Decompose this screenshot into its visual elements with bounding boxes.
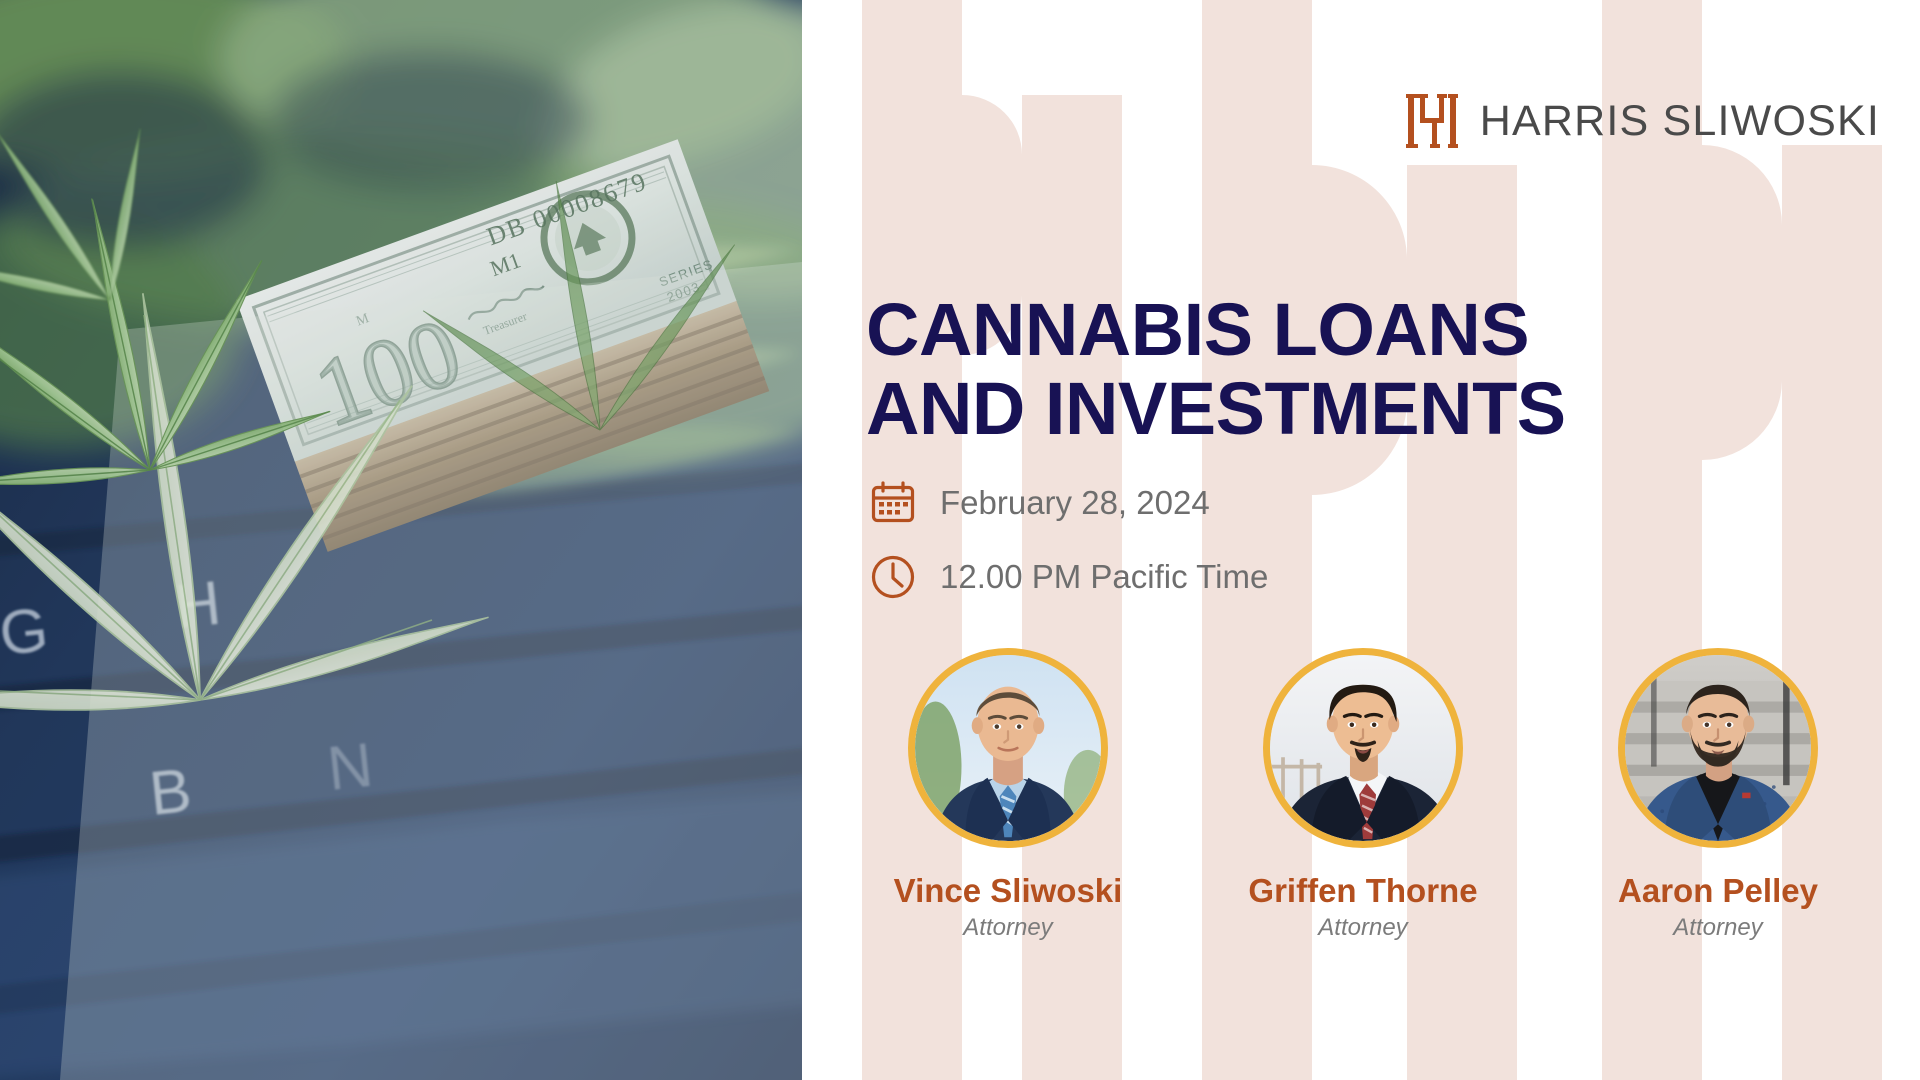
event-time-row: 12.00 PM Pacific Time: [870, 547, 1268, 607]
brand-wordmark: HARRIS SLIWOSKI: [1480, 97, 1880, 146]
title-line-1: CANNABIS LOANS: [866, 290, 1886, 370]
speaker-card[interactable]: Aaron Pelley Attorney: [1568, 648, 1868, 942]
content-panel: HARRIS SLIWOSKI CANNABIS LOANS AND INVES…: [802, 0, 1920, 1080]
clock-icon: [870, 554, 916, 600]
webinar-promo-poster: G H B N: [0, 0, 1920, 1080]
speaker-2-headshot: [1270, 655, 1456, 841]
speaker-role: Attorney: [858, 914, 1158, 942]
speaker-name: Vince Sliwoski: [858, 872, 1158, 910]
hero-photo-illustration: G H B N: [0, 0, 802, 1080]
speaker-card[interactable]: Vince Sliwoski Attorney: [858, 648, 1158, 942]
harris-sliwoski-h-monogram-icon: [1406, 92, 1458, 150]
calendar-icon: [870, 480, 916, 526]
speaker-3-headshot: [1625, 655, 1811, 841]
event-time-text: 12.00 PM Pacific Time: [940, 558, 1268, 596]
event-date-text: February 28, 2024: [940, 484, 1210, 522]
speaker-role: Attorney: [1568, 914, 1868, 942]
avatar: [1618, 648, 1818, 848]
speakers-list: Vince Sliwoski Attorney: [858, 648, 1868, 942]
hero-photo: G H B N: [0, 0, 802, 1080]
speaker-1-headshot: [915, 655, 1101, 841]
event-date-row: February 28, 2024: [870, 473, 1268, 533]
title-line-2: AND INVESTMENTS: [866, 369, 1886, 449]
speaker-card[interactable]: Griffen Thorne Attorney: [1213, 648, 1513, 942]
speaker-name: Griffen Thorne: [1213, 872, 1513, 910]
speaker-name: Aaron Pelley: [1568, 872, 1868, 910]
speaker-role: Attorney: [1213, 914, 1513, 942]
page-title: CANNABIS LOANS AND INVESTMENTS: [866, 290, 1886, 450]
brand-logo[interactable]: HARRIS SLIWOSKI: [1406, 92, 1880, 150]
avatar: [1263, 648, 1463, 848]
avatar: [908, 648, 1108, 848]
event-meta: February 28, 2024 12.00 PM Pacific Time: [870, 473, 1268, 621]
